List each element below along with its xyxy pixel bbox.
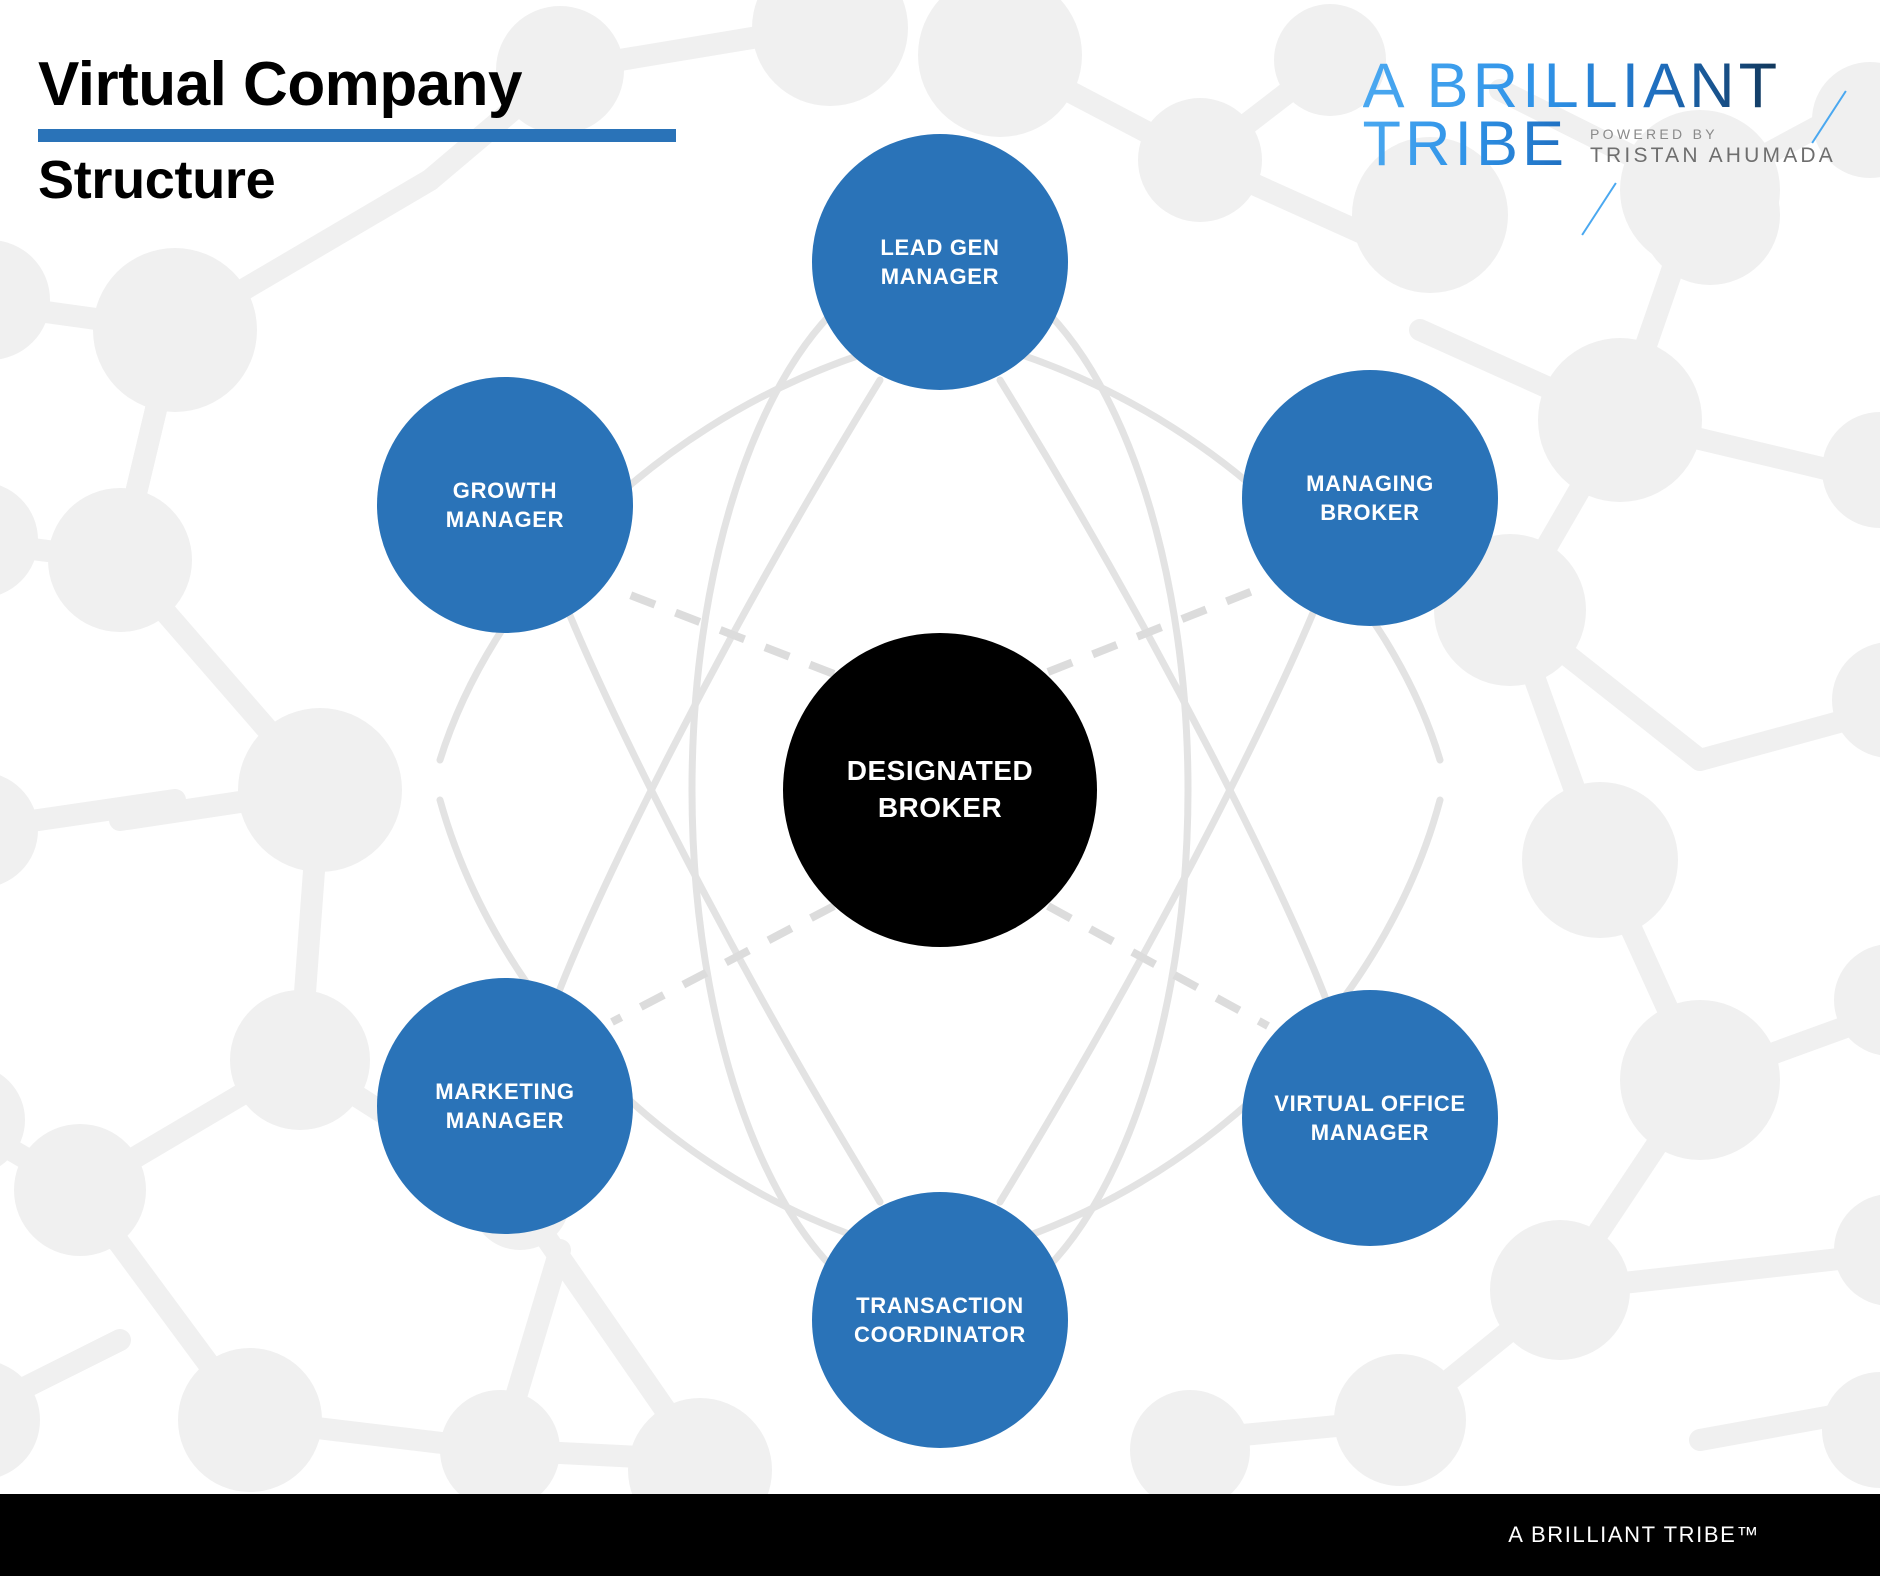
node-transaction-coordinator[interactable]: TRANSACTIONCOORDINATOR (812, 1192, 1068, 1448)
connector-dashed-center-virtualoffice (1048, 906, 1268, 1026)
brand-logo: A BRILLIANT TRIBE POWERED BY TRISTAN AHU… (1363, 58, 1837, 174)
brand-slash-bottom-icon (1581, 182, 1616, 235)
page-title: Virtual Company (38, 54, 676, 116)
page-subtitle: Structure (38, 152, 676, 209)
node-lead-gen-manager[interactable]: LEAD GENMANAGER (812, 134, 1068, 390)
brand-powered-by-label: POWERED BY (1590, 126, 1836, 142)
node-marketing-manager[interactable]: MARKETINGMANAGER (377, 978, 633, 1234)
footer-bar: A BRILLIANT TRIBE™ (0, 1494, 1880, 1576)
node-label: VIRTUAL OFFICEMANAGER (1258, 1089, 1482, 1148)
page-header: Virtual Company Structure (38, 54, 676, 209)
connector-dashed-center-growth (612, 588, 834, 674)
connector-dashed-center-marketing (612, 906, 834, 1022)
node-virtual-office-manager[interactable]: VIRTUAL OFFICEMANAGER (1242, 990, 1498, 1246)
node-label: TRANSACTIONCOORDINATOR (838, 1291, 1042, 1350)
node-label: DESIGNATEDBROKER (831, 753, 1050, 827)
brand-tagline: POWERED BY TRISTAN AHUMADA (1590, 126, 1836, 168)
node-growth-manager[interactable]: GROWTHMANAGER (377, 377, 633, 633)
node-label: LEAD GENMANAGER (864, 233, 1015, 292)
node-label: MANAGINGBROKER (1290, 469, 1450, 528)
brand-person-name: TRISTAN AHUMADA (1590, 144, 1836, 168)
node-label: MARKETINGMANAGER (419, 1077, 591, 1136)
node-label: GROWTHMANAGER (430, 476, 581, 535)
node-designated-broker[interactable]: DESIGNATEDBROKER (783, 633, 1097, 947)
poster-canvas: Virtual Company Structure A BRILLIANT TR… (0, 0, 1880, 1576)
brand-logo-line1: A BRILLIANT (1363, 58, 1837, 116)
node-managing-broker[interactable]: MANAGINGBROKER (1242, 370, 1498, 626)
connector-dashed-center-managing (1048, 585, 1268, 672)
title-underline-rule (38, 129, 676, 142)
brand-logo-row2: TRIBE POWERED BY TRISTAN AHUMADA (1363, 116, 1837, 174)
footer-brand-text: A BRILLIANT TRIBE™ (1508, 1522, 1760, 1548)
brand-logo-line2: TRIBE (1363, 116, 1569, 174)
